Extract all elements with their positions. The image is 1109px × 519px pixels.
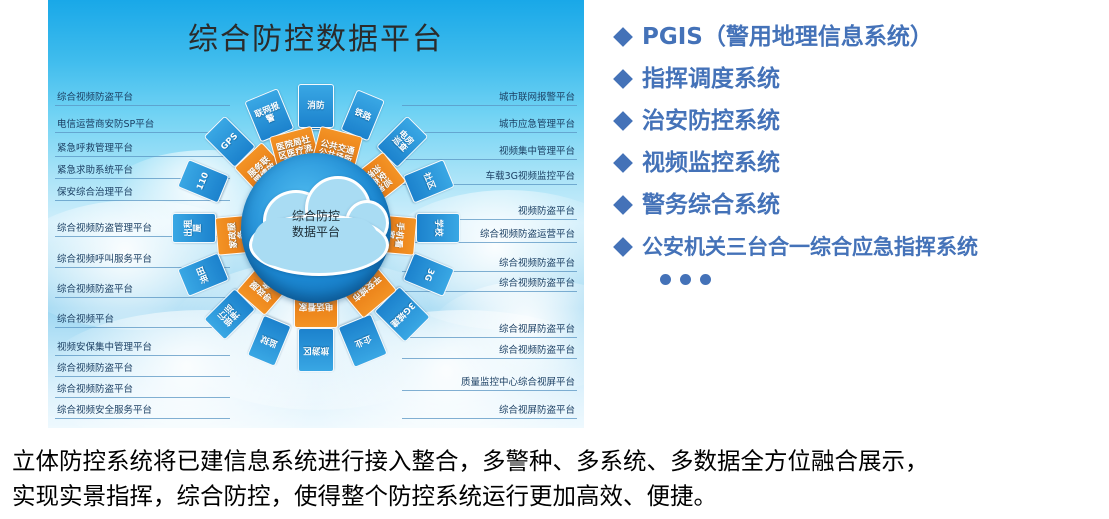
ellipsis-dots-icon: [660, 274, 1102, 285]
bullet-item-three-in-one[interactable]: 公安机关三台合一综合应急指挥系统: [616, 232, 1102, 262]
diagram-image-panel: 综合防控数据平台 综合视频防盗平台 电信运营商安防SP平台 紧急呼救管理平台 紧…: [48, 0, 584, 428]
ring-wheel: 联网报警 110 GPS 联网报警 消防 铁路 电房巡查 社区 学校 3G 3G…: [172, 84, 460, 372]
caption-line-2: 实现实景指挥，综合防控，使得整个防控系统运行更加高效、便捷。: [12, 479, 1102, 514]
outer-tile-oilfield[interactable]: 油田: [177, 252, 229, 297]
bullet-list: PGIS（警用地理信息系统） 指挥调度系统 治安防控系统 视频监控系统 警务综合…: [616, 22, 1102, 285]
bottom-caption: 立体防控系统将已建信息系统进行接入整合，多警种、多系统、多数据全方位融合展示， …: [12, 444, 1102, 514]
center-label-line2: 数据平台: [249, 224, 383, 240]
right-label-11: 质量监控中心综合视屏平台: [402, 376, 577, 391]
diamond-bullet-icon: [613, 195, 633, 215]
outer-tile-110[interactable]: 110: [177, 159, 229, 204]
diamond-bullet-icon: [613, 237, 633, 257]
bullet-item-pgis[interactable]: PGIS（警用地理信息系统）: [616, 22, 1102, 52]
diamond-bullet-icon: [613, 111, 633, 131]
diagram-title: 综合防控数据平台: [48, 14, 584, 58]
bullet-label-police-integrated: 警务综合系统: [642, 190, 780, 220]
bullet-label-video-surveillance: 视频监控系统: [642, 148, 780, 178]
outer-tile-rental[interactable]: 出租屋: [172, 213, 216, 243]
outer-tile-prison[interactable]: 监狱: [247, 315, 292, 367]
bullet-item-public-security[interactable]: 治安防控系统: [616, 106, 1102, 136]
diamond-bullet-icon: [613, 27, 633, 47]
bullet-item-police-integrated[interactable]: 警务综合系统: [616, 190, 1102, 220]
outer-tile-3g[interactable]: 3G: [403, 252, 455, 297]
right-label-12: 综合视屏防盗平台: [402, 404, 577, 419]
bullet-label-pgis: PGIS（警用地理信息系统）: [642, 22, 933, 52]
outer-tile-school[interactable]: 学校: [416, 213, 460, 243]
cloud-icon: 综合防控 数据平台: [249, 174, 383, 272]
outer-tile-enterprise[interactable]: 企业: [338, 313, 388, 367]
diamond-bullet-icon: [613, 153, 633, 173]
bullet-item-command-dispatch[interactable]: 指挥调度系统: [616, 64, 1102, 94]
bullet-label-three-in-one: 公安机关三台合一综合应急指挥系统: [642, 232, 978, 262]
outer-tile-fire[interactable]: 消防: [298, 84, 334, 128]
caption-line-1: 立体防控系统将已建信息系统进行接入整合，多警种、多系统、多数据全方位融合展示，: [12, 444, 1102, 479]
outer-tile-tourism[interactable]: 旅游区: [298, 328, 334, 372]
diamond-bullet-icon: [613, 69, 633, 89]
bullet-label-public-security: 治安防控系统: [642, 106, 780, 136]
outer-tile-community[interactable]: 社区: [403, 159, 455, 204]
center-label: 综合防控 数据平台: [249, 208, 383, 240]
left-label-12: 综合视频防盗平台: [55, 383, 230, 398]
center-label-line1: 综合防控: [249, 208, 383, 224]
bullet-label-command-dispatch: 指挥调度系统: [642, 64, 780, 94]
slide-root: 综合防控数据平台 综合视频防盗平台 电信运营商安防SP平台 紧急呼救管理平台 紧…: [0, 0, 1109, 519]
bullet-item-video-surveillance[interactable]: 视频监控系统: [616, 148, 1102, 178]
left-label-13: 综合视频安全服务平台: [55, 404, 230, 419]
